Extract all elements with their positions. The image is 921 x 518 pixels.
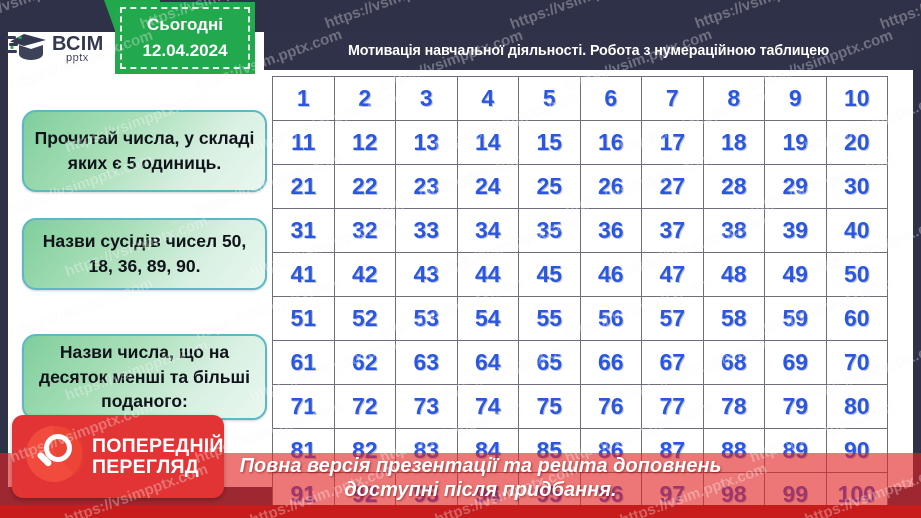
table-cell[interactable]: 40 [826,209,888,253]
table-cell[interactable]: 32 [334,209,396,253]
table-cell[interactable]: 66 [580,341,642,385]
table-cell[interactable]: 69 [765,341,827,385]
table-row: 51525354555657585960 [273,297,888,341]
hundreds-table-wrapper: 1234567891011121314151617181920212223242… [272,76,888,506]
date-badge-label: Сьогодні [147,12,223,38]
table-cell[interactable]: 42 [334,253,396,297]
table-cell[interactable]: 10 [826,77,888,121]
table-cell[interactable]: 54 [457,297,519,341]
table-cell[interactable]: 50 [826,253,888,297]
task-text: Прочитай числа, у складі яких є 5 одиниц… [24,122,265,180]
preview-line-1: ПОПЕРЕДНІЙ [92,436,224,457]
table-cell[interactable]: 1 [273,77,335,121]
table-cell[interactable]: 24 [457,165,519,209]
table-cell[interactable]: 57 [642,297,704,341]
hundreds-table: 1234567891011121314151617181920212223242… [272,76,888,517]
purchase-banner-text: Повна версія презентації та решта доповн… [200,455,722,502]
table-cell[interactable]: 70 [826,341,888,385]
table-cell[interactable]: 26 [580,165,642,209]
table-cell[interactable]: 2 [334,77,396,121]
table-cell[interactable]: 37 [642,209,704,253]
table-cell[interactable]: 67 [642,341,704,385]
slide-header-bar: Мотивація навчальної діяльності. Робота … [264,32,913,70]
table-cell[interactable]: 49 [765,253,827,297]
table-cell[interactable]: 21 [273,165,335,209]
table-cell[interactable]: 17 [642,121,704,165]
table-cell[interactable]: 11 [273,121,335,165]
table-row: 12345678910 [273,77,888,121]
brand-logo: ВСІМ pptx [6,26,114,72]
table-cell[interactable]: 63 [396,341,458,385]
table-cell[interactable]: 65 [519,341,581,385]
table-cell[interactable]: 79 [765,385,827,429]
table-cell[interactable]: 55 [519,297,581,341]
table-cell[interactable]: 78 [703,385,765,429]
logo-subtitle: pptx [66,53,89,63]
task-box-1: Прочитай числа, у складі яких є 5 одиниц… [22,110,267,192]
banner-line-2: доступні після придбання. [240,479,722,503]
table-cell[interactable]: 28 [703,165,765,209]
table-cell[interactable]: 72 [334,385,396,429]
table-cell[interactable]: 33 [396,209,458,253]
table-cell[interactable]: 18 [703,121,765,165]
table-cell[interactable]: 75 [519,385,581,429]
table-cell[interactable]: 41 [273,253,335,297]
table-cell[interactable]: 48 [703,253,765,297]
table-cell[interactable]: 46 [580,253,642,297]
table-cell[interactable]: 77 [642,385,704,429]
table-cell[interactable]: 5 [519,77,581,121]
table-row: 41424344454647484950 [273,253,888,297]
table-cell[interactable]: 56 [580,297,642,341]
table-cell[interactable]: 25 [519,165,581,209]
task-box-2: Назви сусідів чисел 50, 18, 36, 89, 90. [22,218,267,290]
table-cell[interactable]: 60 [826,297,888,341]
graduation-cap-icon [6,30,50,69]
table-cell[interactable]: 51 [273,297,335,341]
table-cell[interactable]: 61 [273,341,335,385]
magnifier-icon [25,425,83,488]
table-cell[interactable]: 15 [519,121,581,165]
table-cell[interactable]: 53 [396,297,458,341]
table-cell[interactable]: 20 [826,121,888,165]
logo-name: ВСІМ [52,35,104,53]
table-cell[interactable]: 74 [457,385,519,429]
table-cell[interactable]: 34 [457,209,519,253]
slide-canvas: ВСІМ pptx Сьогодні 12.04.2024 Мотивація … [0,0,921,518]
table-cell[interactable]: 43 [396,253,458,297]
table-row: 61626364656667686970 [273,341,888,385]
table-cell[interactable]: 35 [519,209,581,253]
table-cell[interactable]: 8 [703,77,765,121]
table-cell[interactable]: 58 [703,297,765,341]
table-cell[interactable]: 27 [642,165,704,209]
watermark-text: https://vsimpptx.com [693,0,841,32]
table-cell[interactable]: 36 [580,209,642,253]
table-cell[interactable]: 16 [580,121,642,165]
table-cell[interactable]: 6 [580,77,642,121]
table-row: 21222324252627282930 [273,165,888,209]
table-cell[interactable]: 19 [765,121,827,165]
table-cell[interactable]: 38 [703,209,765,253]
table-cell[interactable]: 3 [396,77,458,121]
task-text: Назви сусідів чисел 50, 18, 36, 89, 90. [24,225,265,283]
table-cell[interactable]: 73 [396,385,458,429]
table-cell[interactable]: 39 [765,209,827,253]
table-cell[interactable]: 44 [457,253,519,297]
table-cell[interactable]: 31 [273,209,335,253]
table-cell[interactable]: 14 [457,121,519,165]
table-row: 11121314151617181920 [273,121,888,165]
page-title: Мотивація навчальної діяльності. Робота … [348,43,829,59]
task-text: Назви числа, що на десяток менші та біль… [24,336,265,419]
table-cell[interactable]: 7 [642,77,704,121]
table-cell[interactable]: 71 [273,385,335,429]
preview-line-2: ПЕРЕГЛЯД [92,457,224,478]
table-cell[interactable]: 23 [396,165,458,209]
watermark-text: https://vsim.pptx.com [508,0,659,33]
task-box-3: Назви числа, що на десяток менші та біль… [22,334,267,420]
table-cell[interactable]: 4 [457,77,519,121]
table-cell[interactable]: 47 [642,253,704,297]
table-cell[interactable]: 29 [765,165,827,209]
table-cell[interactable]: 64 [457,341,519,385]
date-badge-date: 12.04.2024 [142,38,227,64]
table-cell[interactable]: 76 [580,385,642,429]
table-cell[interactable]: 22 [334,165,396,209]
table-cell[interactable]: 68 [703,341,765,385]
table-cell[interactable]: 80 [826,385,888,429]
table-cell[interactable]: 30 [826,165,888,209]
watermark-text: https://vsim.pptx.com [878,0,921,33]
date-badge: Сьогодні 12.04.2024 [115,2,255,74]
table-cell[interactable]: 9 [765,77,827,121]
watermark-text: https://vsimpptx.com [323,0,471,32]
preview-badge-text: ПОПЕРЕДНІЙ ПЕРЕГЛЯД [92,436,224,477]
table-cell[interactable]: 12 [334,121,396,165]
table-row: 71727374757677787980 [273,385,888,429]
table-cell[interactable]: 62 [334,341,396,385]
table-cell[interactable]: 59 [765,297,827,341]
preview-badge[interactable]: ПОПЕРЕДНІЙ ПЕРЕГЛЯД [12,415,224,498]
table-row: 31323334353637383940 [273,209,888,253]
table-cell[interactable]: 13 [396,121,458,165]
bottom-strip [0,505,921,518]
table-cell[interactable]: 52 [334,297,396,341]
banner-line-1: Повна версія презентації та решта доповн… [240,455,722,479]
table-cell[interactable]: 45 [519,253,581,297]
